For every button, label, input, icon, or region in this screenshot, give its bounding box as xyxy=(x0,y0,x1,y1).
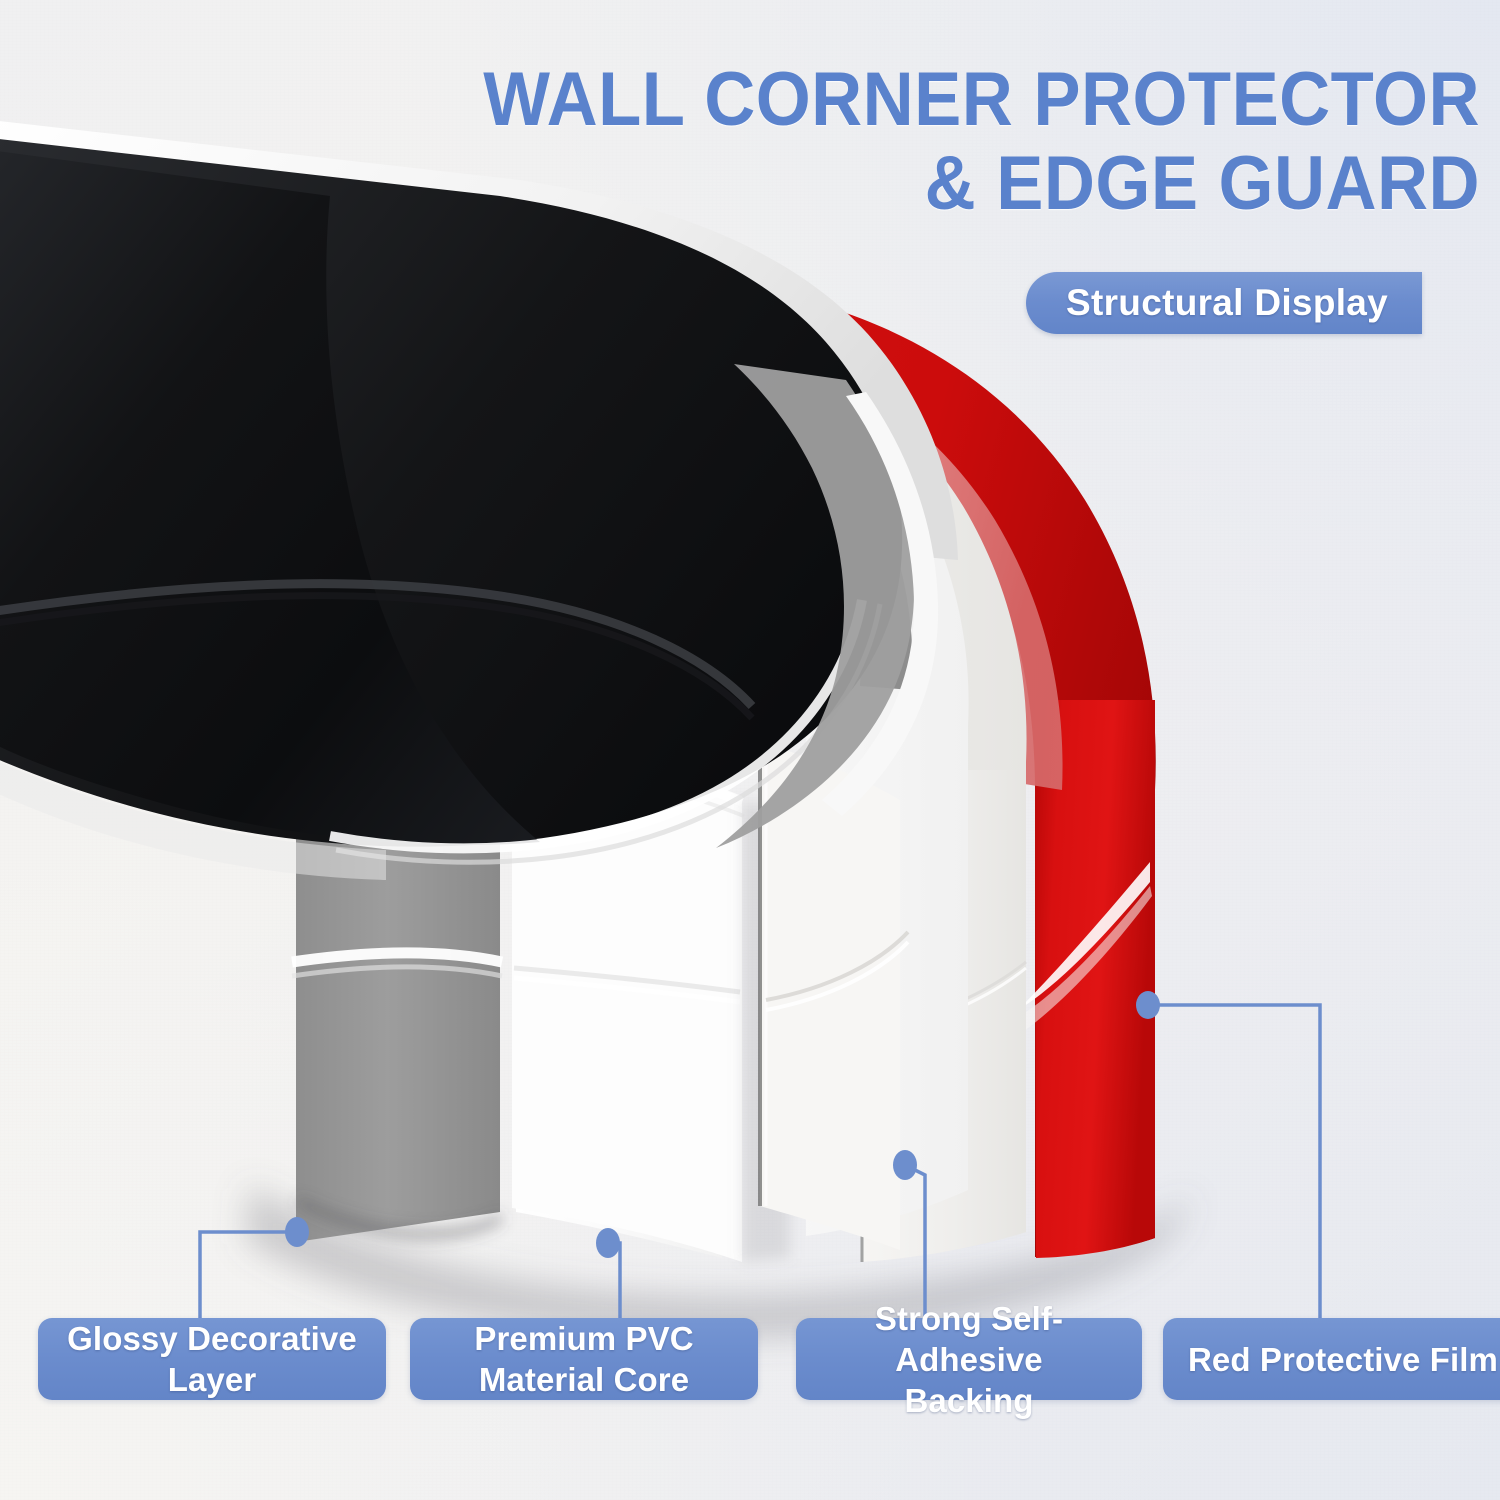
callout-label-glossy: Glossy DecorativeLayer xyxy=(38,1318,386,1400)
leader-line-film xyxy=(1148,1005,1320,1318)
callout-dot-film xyxy=(1136,991,1160,1019)
callout-label-pvc-text: Premium PVCMaterial Core xyxy=(474,1318,693,1400)
leader-line-glossy xyxy=(200,1232,297,1318)
infographic-canvas: WALL CORNER PROTECTOR & EDGE GUARD Struc… xyxy=(0,0,1500,1500)
structural-display-badge: Structural Display xyxy=(1026,272,1422,334)
callout-label-film-text: Red Protective Film xyxy=(1188,1339,1498,1380)
leader-line-adhesive xyxy=(905,1165,925,1318)
callout-dot-glossy xyxy=(285,1217,309,1247)
callout-dot-adhesive xyxy=(893,1150,917,1180)
badge-label: Structural Display xyxy=(1066,282,1388,324)
callout-label-adhesive: Strong Self-AdhesiveBacking xyxy=(796,1318,1142,1400)
callout-dot-pvc xyxy=(596,1228,620,1258)
callout-label-glossy-text: Glossy DecorativeLayer xyxy=(67,1318,357,1400)
callout-label-film: Red Protective Film xyxy=(1163,1318,1500,1400)
callout-leader-lines xyxy=(0,0,1500,1500)
callout-label-pvc: Premium PVCMaterial Core xyxy=(410,1318,758,1400)
callout-label-adhesive-text: Strong Self-AdhesiveBacking xyxy=(806,1298,1132,1421)
